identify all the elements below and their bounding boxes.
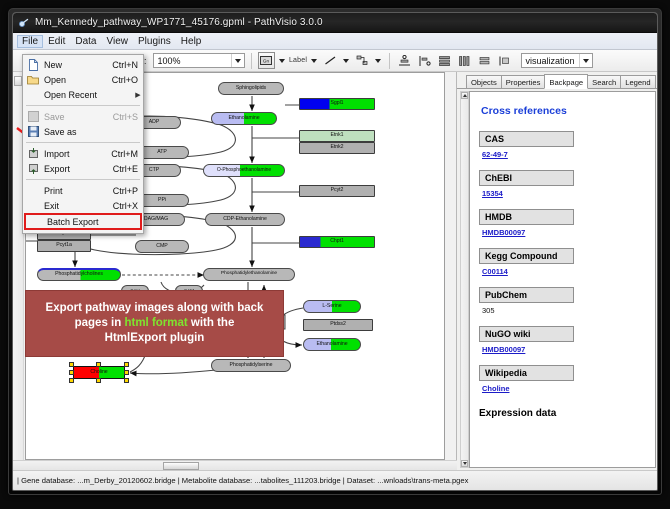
tab-search[interactable]: Search bbox=[587, 75, 621, 88]
node-label: Pcyt2 bbox=[331, 188, 344, 193]
menu-accel: Ctrl+E bbox=[113, 164, 143, 174]
interaction-icon[interactable] bbox=[354, 52, 371, 69]
node-chpt1[interactable]: Chpt1 bbox=[299, 236, 375, 248]
node-o-phosphoethanolamine[interactable]: O-Phosphoethanolamine bbox=[203, 164, 285, 177]
visualization-combobox[interactable]: visualization bbox=[521, 53, 593, 68]
zoom-value: 100% bbox=[158, 56, 181, 66]
blank-icon-4 bbox=[28, 215, 44, 228]
xref-label-nugo: NuGO wiki bbox=[479, 326, 574, 342]
menu-item-batch-export[interactable]: Batch Export bbox=[24, 213, 142, 230]
node-label: PPi bbox=[158, 198, 166, 203]
menu-separator-2 bbox=[26, 142, 140, 143]
pathvisio-window: Mm_Kennedy_pathway_WP1771_45176.gpml - P… bbox=[12, 12, 658, 491]
callout-line2-b: with the bbox=[188, 317, 235, 329]
menu-help[interactable]: Help bbox=[176, 35, 207, 48]
callout-line1: Export pathway images along with back bbox=[46, 302, 264, 314]
node-pcyt1a[interactable]: Pcyt1a bbox=[37, 240, 91, 252]
node-cmp[interactable]: CMP bbox=[135, 240, 189, 253]
node-label: L-Serine bbox=[322, 304, 341, 309]
open-folder-icon bbox=[25, 73, 41, 86]
same-width-icon[interactable] bbox=[476, 52, 493, 69]
datanode-icon[interactable]: Gn bbox=[258, 52, 275, 69]
menu-label: New bbox=[44, 60, 112, 70]
callout-text: Export pathway images along with back pa… bbox=[46, 301, 264, 347]
node-label: Phosphatidylserine bbox=[230, 363, 273, 368]
line-icon[interactable] bbox=[322, 52, 339, 69]
cross-references-heading: Cross references bbox=[481, 105, 646, 117]
callout-line2-a: pages in bbox=[75, 317, 125, 329]
xref-label-wikipedia: Wikipedia bbox=[479, 365, 574, 381]
scrollbar-thumb[interactable] bbox=[14, 76, 22, 86]
menu-separator-3 bbox=[26, 179, 140, 180]
tab-backpage[interactable]: Backpage bbox=[544, 74, 588, 89]
svg-text:Gn: Gn bbox=[263, 58, 270, 63]
menu-view[interactable]: View bbox=[101, 35, 133, 48]
menu-accel: Ctrl+M bbox=[111, 149, 143, 159]
menu-label: Open bbox=[44, 75, 112, 85]
node-label: Phosphatidylcholines bbox=[55, 272, 103, 277]
menu-label: Batch Export bbox=[47, 217, 140, 227]
menu-separator-1 bbox=[26, 105, 140, 106]
menu-label: Exit bbox=[44, 201, 113, 211]
hscroll-thumb[interactable] bbox=[163, 462, 199, 470]
chevron-down-icon[interactable] bbox=[231, 54, 244, 67]
menu-label: Save bbox=[44, 112, 113, 122]
toolbar-separator-1 bbox=[251, 53, 252, 69]
node-sphingolipids[interactable]: Sphingolipids bbox=[218, 82, 284, 95]
node-etnk1[interactable]: Etnk1 bbox=[299, 130, 375, 142]
menu-item-import[interactable]: Import Ctrl+M bbox=[23, 146, 143, 161]
menu-bar[interactable]: File Edit Data View Plugins Help bbox=[13, 33, 657, 50]
line-dropdown-icon[interactable] bbox=[342, 52, 351, 69]
toolbar-separator-2 bbox=[389, 53, 390, 69]
node-phosphatidylserine[interactable]: Phosphatidylserine bbox=[211, 359, 291, 372]
xref-label-chebi: ChEBI bbox=[479, 170, 574, 186]
tab-properties[interactable]: Properties bbox=[501, 75, 546, 88]
xref-value-pubchem: 305 bbox=[482, 306, 495, 315]
menu-accel: Ctrl+S bbox=[113, 112, 143, 122]
backpage-content: Cross references CAS 62-49-7 ChEBI 15354… bbox=[469, 91, 656, 468]
node-ethanolamine-bottom[interactable]: Ethanolamine bbox=[303, 338, 361, 351]
callout-highlight: html format bbox=[124, 317, 187, 329]
node-label: Etnk2 bbox=[330, 145, 343, 150]
menu-label: Print bbox=[44, 186, 113, 196]
visualization-value: visualization bbox=[526, 56, 575, 66]
import-icon bbox=[25, 147, 41, 160]
node-label: CTP bbox=[149, 168, 159, 173]
submenu-arrow-icon: ▶ bbox=[133, 91, 143, 99]
menu-label: Save as bbox=[44, 127, 138, 137]
menu-item-save: Save Ctrl+S bbox=[23, 109, 143, 124]
xref-label-cas: CAS bbox=[479, 131, 574, 147]
node-label: Chpt1 bbox=[330, 239, 344, 244]
xref-value-nugo[interactable]: HMDB00097 bbox=[482, 345, 525, 354]
save-icon bbox=[25, 110, 41, 123]
screenshot-root: Mm_Kennedy_pathway_WP1771_45176.gpml - P… bbox=[0, 0, 670, 509]
node-label: DAG/MAG bbox=[144, 217, 168, 222]
menu-label: Open Recent bbox=[44, 90, 133, 100]
node-label: ATP bbox=[157, 150, 167, 155]
scroll-up-icon[interactable] bbox=[461, 92, 468, 99]
menu-accel: Ctrl+P bbox=[113, 186, 143, 196]
node-label: Ethanolamine bbox=[316, 342, 347, 347]
window-title: Mm_Kennedy_pathway_WP1771_45176.gpml - P… bbox=[35, 17, 323, 28]
menu-plugins[interactable]: Plugins bbox=[133, 35, 176, 48]
node-label: Pcyt1a bbox=[56, 243, 72, 248]
distribute-horz-icon[interactable] bbox=[456, 52, 473, 69]
export-icon bbox=[25, 162, 41, 175]
node-label: ADP bbox=[149, 120, 160, 125]
node-label: Phosphatidylethanolamine bbox=[221, 272, 277, 277]
menu-label: Export bbox=[44, 164, 113, 174]
node-etnk2[interactable]: Etnk2 bbox=[299, 142, 375, 154]
selection-handles[interactable] bbox=[73, 366, 125, 379]
menu-edit[interactable]: Edit bbox=[43, 35, 70, 48]
interaction-dropdown-icon[interactable] bbox=[374, 52, 383, 69]
menu-item-open-recent[interactable]: Open Recent ▶ bbox=[23, 87, 143, 102]
datanode-dropdown-icon[interactable] bbox=[278, 52, 287, 69]
node-label: CMP bbox=[156, 244, 167, 249]
xref-value-hmdb[interactable]: HMDB00097 bbox=[482, 228, 525, 237]
node-phosphatidylethanolamine[interactable]: Phosphatidylethanolamine bbox=[203, 268, 295, 281]
zoom-combobox[interactable]: 100% bbox=[153, 53, 245, 68]
node-label: Ethanolamine bbox=[228, 116, 259, 121]
annotation-callout: Export pathway images along with back pa… bbox=[25, 290, 284, 357]
xref-value-cas[interactable]: 62-49-7 bbox=[482, 150, 508, 159]
label-icon[interactable]: Label bbox=[290, 52, 307, 69]
distribute-vert-icon[interactable] bbox=[436, 52, 453, 69]
node-phosphatidylcholines[interactable]: Phosphatidylcholines bbox=[37, 268, 121, 281]
node-label: Etnk1 bbox=[330, 133, 343, 138]
node-pcyt2[interactable]: Pcyt2 bbox=[299, 185, 375, 197]
side-panel-tabs[interactable]: Objects Properties Backpage Search Legen… bbox=[457, 72, 658, 89]
menu-accel: Ctrl+X bbox=[113, 201, 143, 211]
status-bar: | Gene database: ...m_Derby_20120602.bri… bbox=[13, 470, 658, 490]
menu-label: Import bbox=[44, 149, 111, 159]
same-height-icon[interactable] bbox=[496, 52, 513, 69]
menu-item-save-as[interactable]: Save as bbox=[23, 124, 143, 139]
scroll-down-icon[interactable] bbox=[461, 460, 468, 467]
status-text: | Gene database: ...m_Derby_20120602.bri… bbox=[17, 476, 468, 485]
title-bar: Mm_Kennedy_pathway_WP1771_45176.gpml - P… bbox=[13, 13, 657, 33]
side-panel: Objects Properties Backpage Search Legen… bbox=[457, 72, 658, 471]
menu-accel: Ctrl+N bbox=[112, 60, 143, 70]
new-file-icon bbox=[25, 58, 41, 71]
pathvisio-icon bbox=[18, 17, 30, 29]
align-top-icon[interactable] bbox=[396, 52, 413, 69]
save-as-icon bbox=[25, 125, 41, 138]
menu-item-exit[interactable]: Exit Ctrl+X bbox=[23, 198, 143, 213]
menu-accel: Ctrl+O bbox=[112, 75, 143, 85]
chevron-down-icon-2[interactable] bbox=[579, 54, 592, 67]
node-sgpl1[interactable]: Sgpl1 bbox=[299, 98, 375, 110]
node-cdp-ethanolamine[interactable]: CDP-Ethanolamine bbox=[205, 213, 285, 226]
tab-objects[interactable]: Objects bbox=[466, 75, 502, 88]
node-label: O-Phosphoethanolamine bbox=[217, 168, 271, 173]
menu-file[interactable]: File bbox=[17, 35, 43, 48]
xref-label-pubchem: PubChem bbox=[479, 287, 574, 303]
xref-value-wikipedia[interactable]: Choline bbox=[482, 384, 510, 393]
menu-item-export[interactable]: Export Ctrl+E bbox=[23, 161, 143, 176]
label-dropdown-icon[interactable] bbox=[310, 52, 319, 69]
file-menu-dropdown[interactable]: New Ctrl+N Open Ctrl+O Open Recent ▶ bbox=[22, 54, 144, 234]
expression-data-heading: Expression data bbox=[479, 408, 646, 419]
menu-data[interactable]: Data bbox=[70, 35, 101, 48]
node-l-serine[interactable]: L-Serine bbox=[303, 300, 361, 313]
blank-icon-3 bbox=[25, 199, 41, 212]
xref-value-chebi[interactable]: 15354 bbox=[482, 189, 503, 198]
tab-legend[interactable]: Legend bbox=[620, 75, 655, 88]
menu-item-new[interactable]: New Ctrl+N bbox=[23, 57, 143, 72]
node-label: Sgpl1 bbox=[330, 101, 343, 106]
menu-item-open[interactable]: Open Ctrl+O bbox=[23, 72, 143, 87]
xref-value-kegg[interactable]: C00114 bbox=[482, 267, 508, 276]
backpage-scrollbar[interactable] bbox=[460, 91, 469, 468]
node-label: CDP-Ethanolamine bbox=[223, 217, 267, 222]
blank-icon-2 bbox=[25, 184, 41, 197]
xref-label-hmdb: HMDB bbox=[479, 209, 574, 225]
blank-icon bbox=[25, 88, 41, 101]
backpage-wrapper: Cross references CAS 62-49-7 ChEBI 15354… bbox=[457, 89, 658, 471]
node-label: Ptdss2 bbox=[330, 322, 346, 327]
align-left-icon[interactable] bbox=[416, 52, 433, 69]
xref-label-kegg: Kegg Compound bbox=[479, 248, 574, 264]
node-ethanolamine-top[interactable]: Ethanolamine bbox=[211, 112, 277, 125]
menu-item-print[interactable]: Print Ctrl+P bbox=[23, 183, 143, 198]
node-ptdss2[interactable]: Ptdss2 bbox=[303, 319, 373, 331]
node-label: Sphingolipids bbox=[236, 86, 266, 91]
callout-line3: HtmlExport plugin bbox=[105, 332, 205, 344]
